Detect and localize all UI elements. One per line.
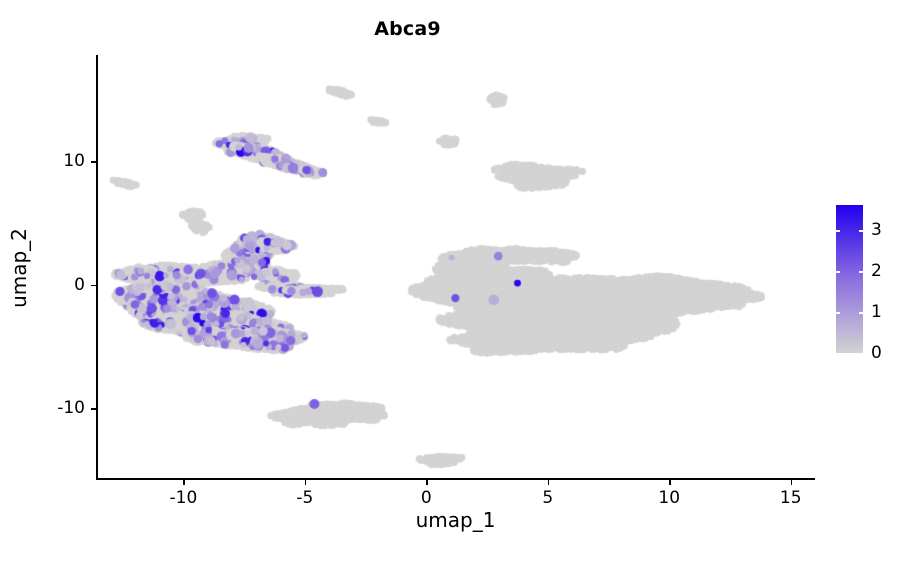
colorbar-tick-label: 0 [871,343,882,363]
page-title: Abca9 [0,18,815,40]
x-tick-label: 5 [542,488,553,508]
colorbar-tick-mark [859,271,863,273]
x-axis-spine [96,478,815,480]
y-axis-label-text: umap_2 [7,228,31,308]
x-tick-mark [305,480,307,485]
x-tick-label: 10 [658,488,680,508]
colorbar-tick-mark [836,312,840,314]
y-tick-label: 10 [63,151,85,171]
y-axis-label: umap_2 [6,55,32,480]
x-tick-mark [669,480,671,485]
colorbar-tick-label: 2 [871,261,882,281]
y-tick-mark [91,161,96,163]
y-tick-label: -10 [57,398,85,418]
x-tick-mark [426,480,428,485]
colorbar: 0123 [836,205,863,353]
colorbar-tick-mark [836,353,840,355]
x-tick-mark [548,480,550,485]
y-axis-spine [96,55,98,480]
y-tick-mark [91,408,96,410]
colorbar-tick-mark [859,230,863,232]
colorbar-tick-mark [836,271,840,273]
colorbar-tick-label: 3 [871,220,882,240]
x-tick-label: -5 [296,488,313,508]
colorbar-tick-mark [859,312,863,314]
y-tick-mark [91,285,96,287]
x-tick-label: -10 [170,488,198,508]
x-tick-mark [791,480,793,485]
plot-axes: -10-5051015 -10010 [96,55,815,480]
colorbar-tick-label: 1 [871,302,882,322]
colorbar-tick-mark [836,230,840,232]
colorbar-tick-mark [859,353,863,355]
x-tick-label: 0 [421,488,432,508]
x-tick-mark [183,480,185,485]
x-tick-label: 15 [780,488,802,508]
colorbar-gradient [836,205,863,353]
scatter-points-canvas [96,55,815,480]
x-axis-label: umap_1 [96,508,815,532]
umap-feature-plot-figure: Abca9 umap_2 -10-5051015 -10010 umap_1 0… [0,0,911,562]
y-tick-label: 0 [74,275,85,295]
